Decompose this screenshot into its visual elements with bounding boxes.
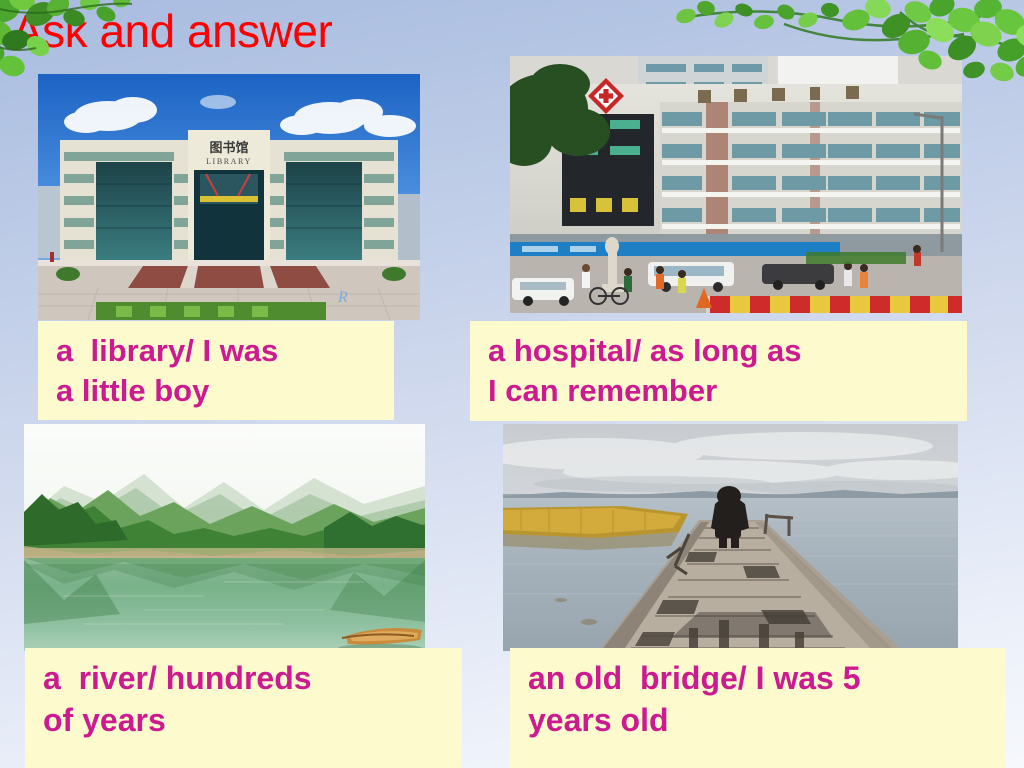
caption-river-line2: of years xyxy=(43,700,462,742)
photo-river xyxy=(24,424,425,651)
caption-river-line1: a river/ hundreds xyxy=(43,658,462,700)
page-title: Ask and answer xyxy=(12,6,332,57)
caption-bridge: an old bridge/ I was 5 years old xyxy=(510,648,1006,768)
photo-bridge xyxy=(503,424,958,651)
caption-hospital: a hospital/ as long as I can remember xyxy=(470,321,967,421)
svg-text:图书馆: 图书馆 xyxy=(209,140,248,156)
caption-library: a library/ I was a little boy xyxy=(38,321,394,420)
photo-library: 图书馆 LIBRARY xyxy=(38,74,420,320)
caption-river: a river/ hundreds of years xyxy=(25,648,462,768)
caption-bridge-line2: years old xyxy=(528,700,1006,742)
caption-library-line2: a little boy xyxy=(56,371,394,411)
caption-hospital-line1: a hospital/ as long as xyxy=(488,331,967,371)
slide-canvas: Ask and answer xyxy=(0,0,1024,768)
svg-text:LIBRARY: LIBRARY xyxy=(206,157,252,166)
caption-hospital-line2: I can remember xyxy=(488,371,967,411)
photo-hospital xyxy=(510,56,962,313)
caption-bridge-line1: an old bridge/ I was 5 xyxy=(528,658,1006,700)
svg-text:R: R xyxy=(337,289,348,306)
caption-library-line1: a library/ I was xyxy=(56,331,394,371)
